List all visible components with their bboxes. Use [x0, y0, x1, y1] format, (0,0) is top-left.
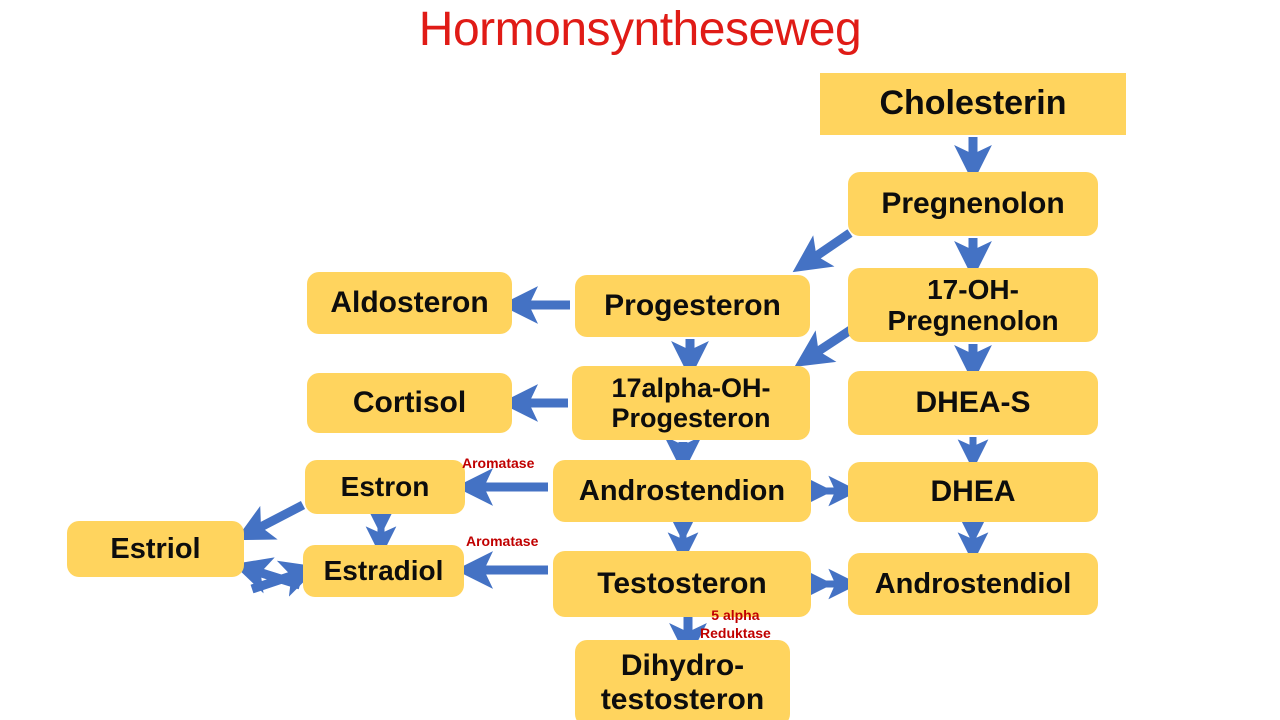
- arrow-estron-estriol: [253, 505, 303, 531]
- node-17-oh-pregnenolon[interactable]: 17-OH- Pregnenolon: [848, 268, 1098, 342]
- node-estron[interactable]: Estron: [305, 460, 465, 514]
- node-estriol[interactable]: Estriol: [67, 521, 244, 577]
- node-dhea-s[interactable]: DHEA-S: [848, 371, 1098, 435]
- node-cholesterin[interactable]: Cholesterin: [820, 73, 1126, 135]
- node-testosteron[interactable]: Testosteron: [553, 551, 811, 617]
- node-cortisol[interactable]: Cortisol: [307, 373, 512, 433]
- node-progesteron[interactable]: Progesteron: [575, 275, 810, 337]
- arrow-estradiol-estriol: [252, 570, 300, 585]
- node-17alpha-oh-progesteron[interactable]: 17alpha-OH- Progesteron: [572, 366, 810, 440]
- arrow-17ohpregnenolon-17alphaohprogesteron: [811, 329, 852, 356]
- diagram-canvas: Hormonsyntheseweg: [0, 0, 1280, 720]
- node-pregnenolon[interactable]: Pregnenolon: [848, 172, 1098, 236]
- arrow-estriol-estradiol: [252, 573, 300, 589]
- enzyme-label-aromatase-estradiol: Aromatase: [466, 533, 538, 551]
- node-androstendion[interactable]: Androstendion: [553, 460, 811, 522]
- enzyme-label-5-alpha-reduktase: 5 alpha Reduktase: [700, 607, 771, 642]
- arrow-pregnenolon-progesteron: [809, 233, 850, 261]
- node-aldosteron[interactable]: Aldosteron: [307, 272, 512, 334]
- node-estradiol[interactable]: Estradiol: [303, 545, 464, 597]
- node-dhea[interactable]: DHEA: [848, 462, 1098, 522]
- enzyme-label-aromatase-estron: Aromatase: [462, 455, 534, 473]
- node-androstendiol[interactable]: Androstendiol: [848, 553, 1098, 615]
- page-title: Hormonsyntheseweg: [0, 2, 1280, 57]
- node-dihydro-testosteron[interactable]: Dihydro- testosteron: [575, 640, 790, 720]
